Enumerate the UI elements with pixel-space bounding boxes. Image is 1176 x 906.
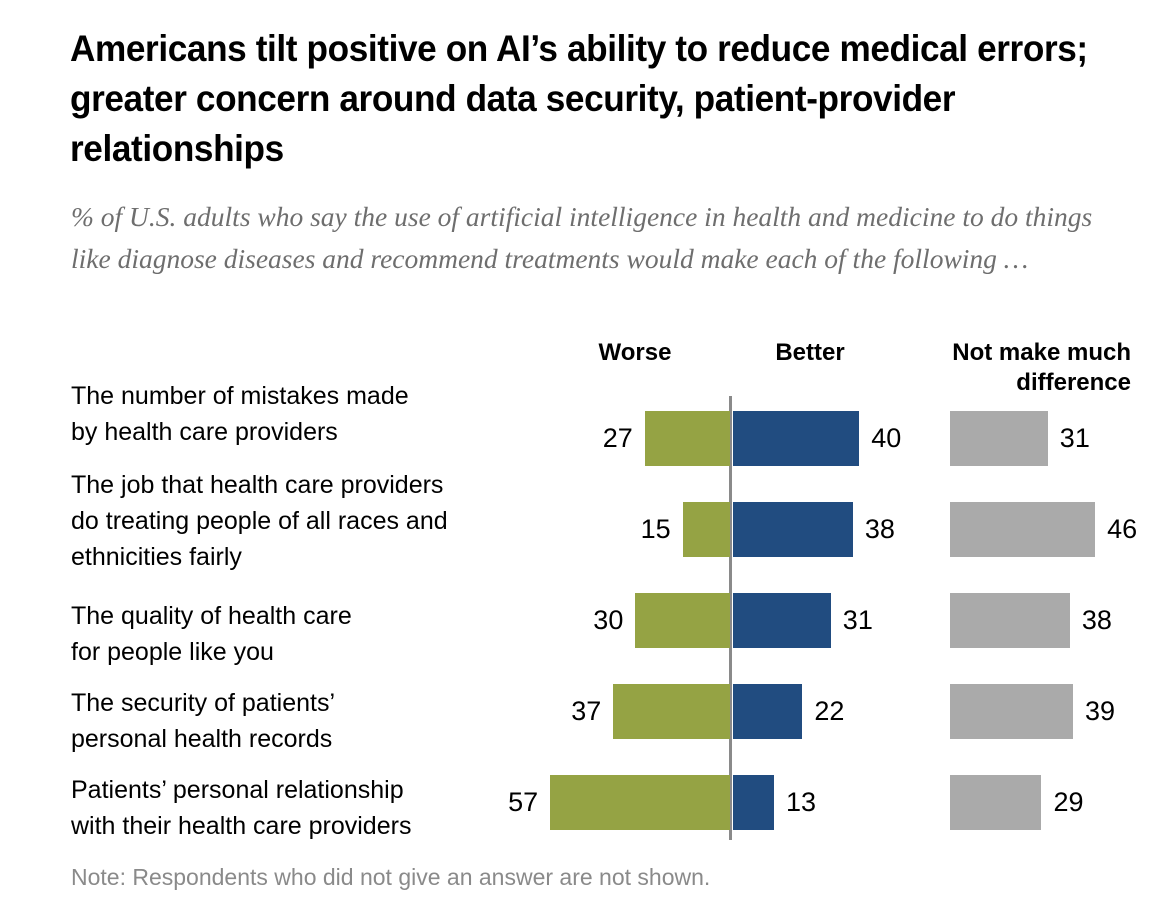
row-label: The security of patients’ personal healt…: [71, 685, 541, 757]
row-label: The quality of health care for people li…: [71, 598, 541, 670]
value-not-make-much-difference: 31: [1060, 411, 1140, 466]
row-label: The job that health care providers do tr…: [71, 467, 541, 575]
value-better: 31: [843, 593, 923, 648]
bar-not-make-much-difference: [950, 684, 1073, 739]
chart-figure: Americans tilt positive on AI’s ability …: [0, 0, 1176, 906]
bar-better: [733, 593, 831, 648]
row-label: The number of mistakes made by health ca…: [71, 378, 541, 450]
bar-worse: [635, 593, 730, 648]
bar-not-make-much-difference: [950, 411, 1048, 466]
bar-not-make-much-difference: [950, 775, 1041, 830]
value-better: 13: [786, 775, 866, 830]
bar-worse: [645, 411, 730, 466]
value-better: 38: [865, 502, 945, 557]
chart-row: The job that health care providers do tr…: [0, 496, 1176, 587]
value-worse: 37: [483, 684, 601, 739]
bar-worse: [550, 775, 730, 830]
value-better: 40: [871, 411, 951, 466]
bar-better: [733, 411, 859, 466]
value-not-make-much-difference: 38: [1082, 593, 1162, 648]
bar-worse: [613, 684, 730, 739]
value-worse: 30: [505, 593, 623, 648]
bar-worse: [683, 502, 730, 557]
value-worse: 15: [553, 502, 671, 557]
value-better: 22: [814, 684, 894, 739]
chart-row: The security of patients’ personal healt…: [0, 678, 1176, 769]
chart-row: The quality of health care for people li…: [0, 587, 1176, 678]
chart-note: Note: Respondents who did not give an an…: [71, 862, 710, 892]
value-not-make-much-difference: 39: [1085, 684, 1165, 739]
chart-row: Patients’ personal relationship with the…: [0, 769, 1176, 860]
value-not-make-much-difference: 46: [1107, 502, 1176, 557]
bar-not-make-much-difference: [950, 593, 1070, 648]
value-not-make-much-difference: 29: [1053, 775, 1133, 830]
value-worse: 27: [515, 411, 633, 466]
bar-better: [733, 684, 802, 739]
bar-better: [733, 775, 774, 830]
bar-better: [733, 502, 853, 557]
chart-rows: The number of mistakes made by health ca…: [0, 0, 1176, 906]
bar-not-make-much-difference: [950, 502, 1095, 557]
value-worse: 57: [420, 775, 538, 830]
